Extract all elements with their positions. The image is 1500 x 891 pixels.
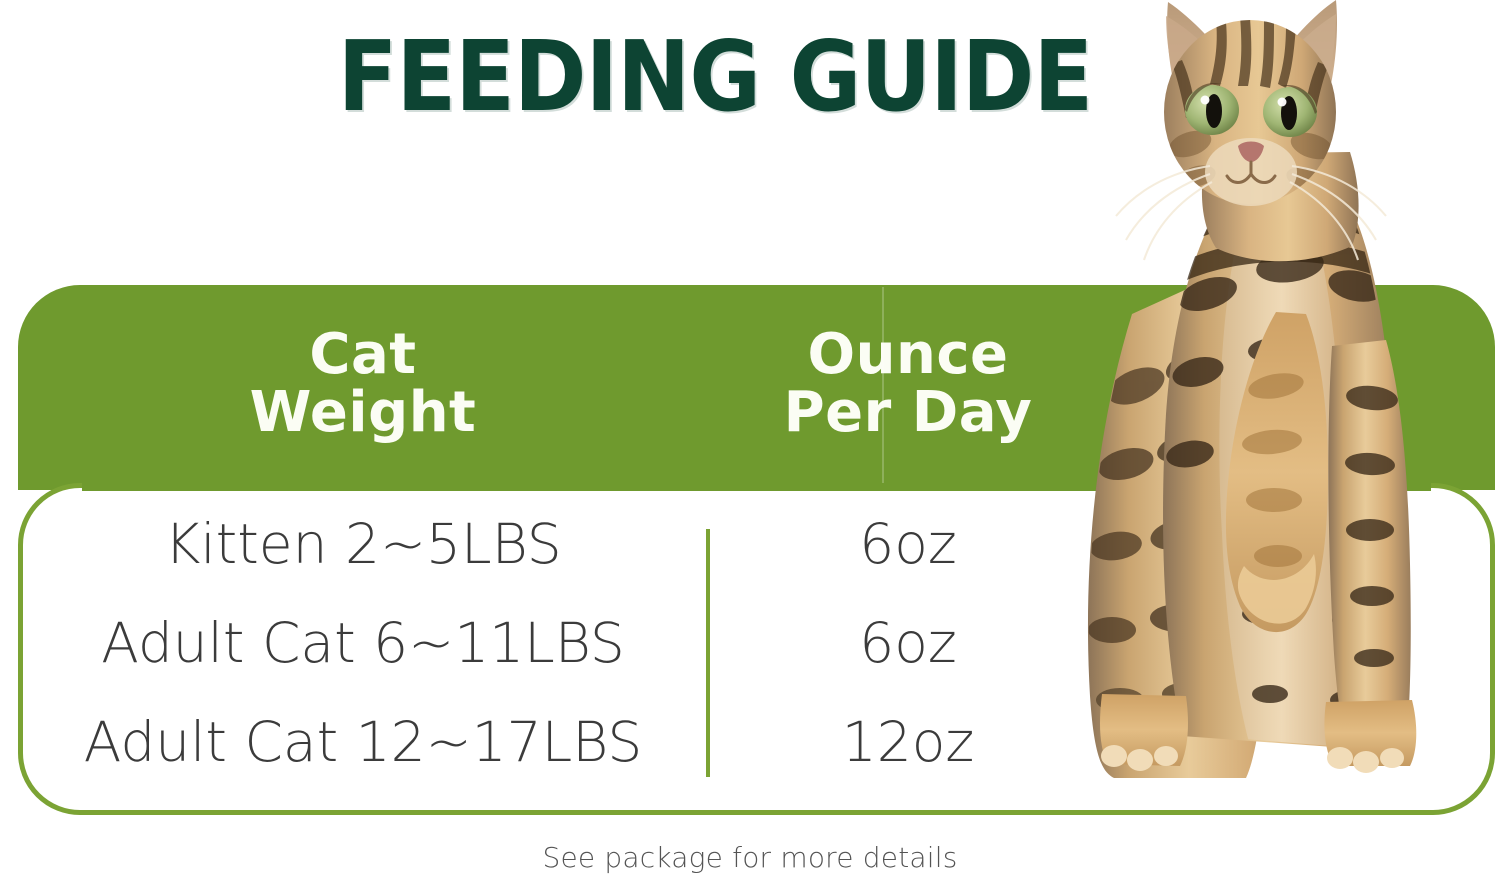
cell-ounce-per-day: 6oz bbox=[708, 616, 1108, 671]
cat-muzzle bbox=[1205, 138, 1297, 206]
cell-cat-weight: Adult Cat 12~17LBS bbox=[18, 715, 708, 770]
cat-neck bbox=[1202, 152, 1359, 261]
column-header-cat-weight-line2: Weight bbox=[250, 384, 477, 442]
table-row: Adult Cat 6~11LBS 6oz bbox=[18, 594, 1495, 693]
header-column-divider bbox=[882, 287, 884, 483]
column-header-cat-weight-line1: Cat bbox=[309, 326, 416, 384]
cat-whiskers bbox=[1116, 166, 1386, 260]
column-header-ounce-per-day: Ounce Per Day bbox=[708, 285, 1108, 483]
table-header-row: Cat Weight Ounce Per Day bbox=[18, 285, 1495, 483]
column-header-ounce-per-day-line2: Per Day bbox=[784, 384, 1033, 442]
cat-mouth bbox=[1227, 162, 1275, 183]
column-header-ounce-per-day-line1: Ounce bbox=[807, 326, 1008, 384]
cat-nose bbox=[1238, 142, 1264, 163]
cell-ounce-per-day: 12oz bbox=[708, 715, 1108, 770]
footer-note: See package for more details bbox=[0, 841, 1500, 874]
table-row: Kitten 2~5LBS 6oz bbox=[18, 495, 1495, 594]
feeding-guide-graphic: FEEDING GUIDE Cat Weight Ounce Per Day K… bbox=[0, 0, 1500, 891]
table-body-rows: Kitten 2~5LBS 6oz Adult Cat 6~11LBS 6oz … bbox=[18, 495, 1495, 805]
table-row: Adult Cat 12~17LBS 12oz bbox=[18, 693, 1495, 792]
cell-cat-weight: Kitten 2~5LBS bbox=[18, 517, 708, 572]
page-title: FEEDING GUIDE bbox=[72, 28, 1359, 125]
column-header-cat-weight: Cat Weight bbox=[18, 285, 708, 483]
cell-ounce-per-day: 6oz bbox=[708, 517, 1108, 572]
feeding-table-card: Cat Weight Ounce Per Day Kitten 2~5LBS 6… bbox=[18, 285, 1495, 815]
cell-cat-weight: Adult Cat 6~11LBS bbox=[18, 616, 708, 671]
